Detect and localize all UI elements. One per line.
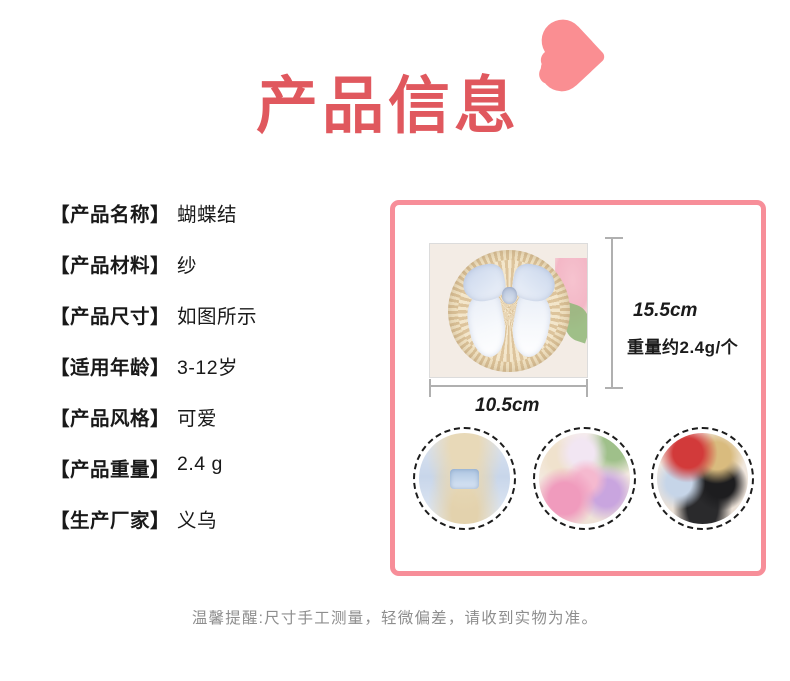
thumbnail-photo-2[interactable] bbox=[533, 427, 636, 530]
spec-label: 【产品重量】 bbox=[50, 453, 170, 482]
spec-row-size: 【产品尺寸】 如图所示 bbox=[50, 300, 370, 351]
spec-label: 【适用年龄】 bbox=[50, 351, 170, 380]
spec-value: 蝴蝶结 bbox=[177, 198, 237, 227]
bow-product bbox=[461, 265, 557, 357]
spec-row-material: 【产品材料】 纱 bbox=[50, 249, 370, 300]
spec-label: 【生产厂家】 bbox=[50, 504, 170, 533]
spec-row-product-name: 【产品名称】 蝴蝶结 bbox=[50, 198, 370, 249]
thumbnail-photo-1[interactable] bbox=[413, 427, 516, 530]
thumbnail-image bbox=[539, 433, 630, 524]
dimension-line-vertical bbox=[611, 237, 613, 389]
spec-value: 如图所示 bbox=[177, 300, 257, 329]
dimension-height-label: 15.5cm bbox=[633, 300, 697, 322]
dimension-width-label: 10.5cm bbox=[475, 395, 539, 417]
bow-wing-right bbox=[509, 261, 558, 305]
spec-value: 2.4 g bbox=[177, 453, 223, 476]
spec-value: 可爱 bbox=[177, 402, 217, 431]
spec-row-weight: 【产品重量】 2.4 g bbox=[50, 453, 370, 504]
thumbnail-image bbox=[419, 433, 510, 524]
spec-row-style: 【产品风格】 可爱 bbox=[50, 402, 370, 453]
title-area: 产品信息 bbox=[0, 0, 790, 180]
bow-wing-left bbox=[459, 261, 508, 305]
spec-value: 纱 bbox=[177, 249, 197, 278]
product-image-panel: 15.5cm 重量约2.4g/个 10.5cm bbox=[390, 200, 766, 576]
spec-row-age: 【适用年龄】 3-12岁 bbox=[50, 351, 370, 402]
spec-label: 【产品尺寸】 bbox=[50, 300, 170, 329]
main-product-photo bbox=[429, 243, 588, 378]
thumbnail-image bbox=[657, 433, 748, 524]
footer-note: 温馨提醒:尺寸手工测量，轻微偏差，请收到实物为准。 bbox=[0, 606, 790, 628]
spec-value: 3-12岁 bbox=[177, 351, 238, 380]
spec-label: 【产品名称】 bbox=[50, 198, 170, 227]
thumbnail-photo-3[interactable] bbox=[651, 427, 754, 530]
spec-value: 义乌 bbox=[177, 504, 217, 533]
spec-row-manufacturer: 【生产厂家】 义乌 bbox=[50, 504, 370, 555]
product-spec-list: 【产品名称】 蝴蝶结 【产品材料】 纱 【产品尺寸】 如图所示 【适用年龄】 3… bbox=[50, 198, 370, 555]
spec-label: 【产品风格】 bbox=[50, 402, 170, 431]
bow-knot bbox=[502, 287, 517, 304]
spec-label: 【产品材料】 bbox=[50, 249, 170, 278]
dimension-line-horizontal bbox=[429, 385, 588, 387]
page-title: 产品信息 bbox=[256, 76, 520, 138]
dimension-weight-label: 重量约2.4g/个 bbox=[627, 333, 738, 358]
